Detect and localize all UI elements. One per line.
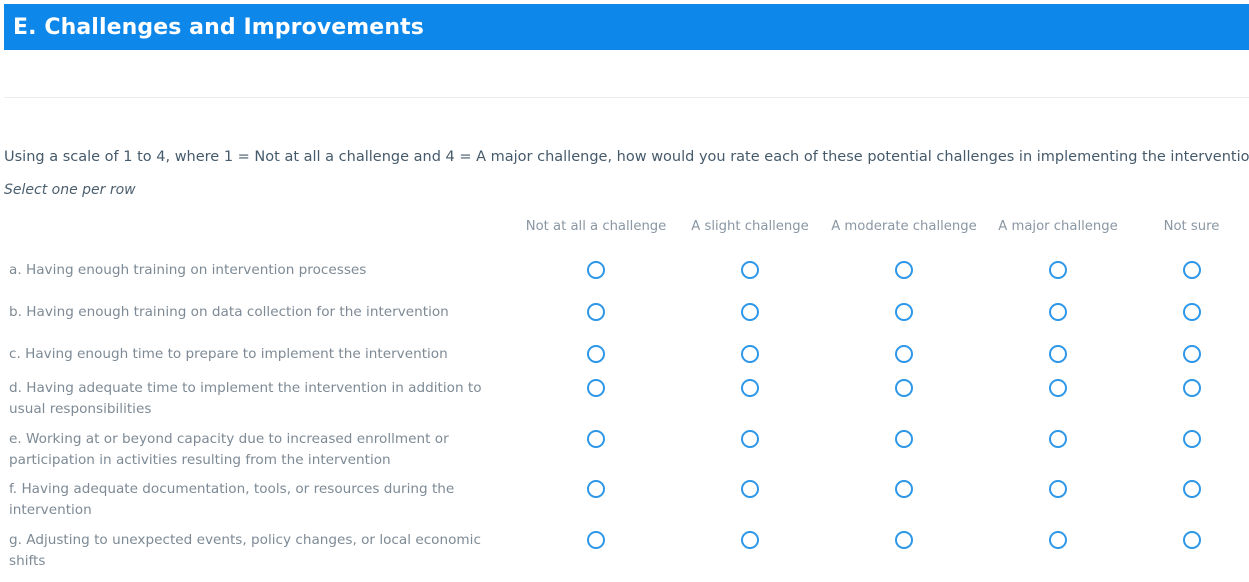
radio-button[interactable] (741, 345, 759, 363)
radio-button[interactable] (587, 303, 605, 321)
radio-button[interactable] (1183, 531, 1201, 549)
matrix-row: e. Working at or beyond capacity due to … (0, 429, 1249, 471)
radio-button[interactable] (741, 430, 759, 448)
matrix-row: f. Having adequate documentation, tools,… (0, 479, 1249, 521)
radio-button[interactable] (895, 261, 913, 279)
matrix-option-cell[interactable] (827, 260, 981, 279)
matrix-option-cell[interactable] (673, 302, 827, 321)
radio-button[interactable] (1049, 430, 1067, 448)
matrix-row-label: d. Having adequate time to implement the… (0, 378, 519, 420)
radio-button[interactable] (587, 345, 605, 363)
matrix-option-cell[interactable] (519, 344, 673, 363)
radio-button[interactable] (587, 430, 605, 448)
section-divider (4, 97, 1249, 98)
radio-button[interactable] (895, 345, 913, 363)
matrix-row: d. Having adequate time to implement the… (0, 378, 1249, 420)
radio-button[interactable] (1049, 345, 1067, 363)
radio-button[interactable] (1049, 303, 1067, 321)
matrix-option-cell[interactable] (1135, 429, 1248, 448)
matrix-option-cell[interactable] (1135, 530, 1248, 549)
radio-button[interactable] (1049, 531, 1067, 549)
matrix-column-header: Not sure (1135, 218, 1248, 236)
radio-button[interactable] (741, 480, 759, 498)
matrix-option-cell[interactable] (519, 260, 673, 279)
matrix-option-cell[interactable] (827, 530, 981, 549)
radio-button[interactable] (895, 430, 913, 448)
radio-button[interactable] (1183, 303, 1201, 321)
radio-button[interactable] (895, 303, 913, 321)
matrix-option-cell[interactable] (827, 344, 981, 363)
matrix-question-grid: Not at all a challengeA slight challenge… (0, 218, 1249, 248)
matrix-option-cell[interactable] (981, 302, 1135, 321)
matrix-row-label: g. Adjusting to unexpected events, polic… (0, 530, 519, 572)
matrix-option-cell[interactable] (673, 479, 827, 498)
radio-button[interactable] (1183, 345, 1201, 363)
matrix-option-cell[interactable] (519, 429, 673, 448)
radio-button[interactable] (587, 379, 605, 397)
matrix-option-cell[interactable] (981, 530, 1135, 549)
matrix-column-header: A moderate challenge (827, 218, 981, 236)
matrix-row-label: c. Having enough time to prepare to impl… (0, 344, 519, 365)
matrix-header-row: Not at all a challengeA slight challenge… (0, 218, 1249, 248)
matrix-option-cell[interactable] (519, 479, 673, 498)
radio-button[interactable] (895, 480, 913, 498)
question-text: Using a scale of 1 to 4, where 1 = Not a… (4, 146, 1234, 168)
question-block: Using a scale of 1 to 4, where 1 = Not a… (4, 146, 1234, 201)
radio-button[interactable] (741, 379, 759, 397)
matrix-option-cell[interactable] (827, 479, 981, 498)
matrix-row-label: b. Having enough training on data collec… (0, 302, 519, 323)
matrix-option-cell[interactable] (981, 479, 1135, 498)
section-header-banner: E. Challenges and Improvements (4, 4, 1249, 50)
matrix-option-cell[interactable] (673, 429, 827, 448)
matrix-option-cell[interactable] (673, 344, 827, 363)
matrix-row-label: f. Having adequate documentation, tools,… (0, 479, 519, 521)
matrix-row-label: e. Working at or beyond capacity due to … (0, 429, 519, 471)
radio-button[interactable] (895, 379, 913, 397)
radio-button[interactable] (1049, 480, 1067, 498)
matrix-column-header: A slight challenge (673, 218, 827, 236)
matrix-row: g. Adjusting to unexpected events, polic… (0, 530, 1249, 572)
matrix-option-cell[interactable] (981, 344, 1135, 363)
matrix-option-cell[interactable] (981, 260, 1135, 279)
radio-button[interactable] (741, 261, 759, 279)
radio-button[interactable] (741, 531, 759, 549)
radio-button[interactable] (1049, 261, 1067, 279)
matrix-option-cell[interactable] (981, 378, 1135, 397)
matrix-option-cell[interactable] (827, 302, 981, 321)
matrix-option-cell[interactable] (1135, 479, 1248, 498)
matrix-option-cell[interactable] (519, 378, 673, 397)
radio-button[interactable] (1049, 379, 1067, 397)
matrix-row: b. Having enough training on data collec… (0, 302, 1249, 323)
matrix-option-cell[interactable] (519, 302, 673, 321)
matrix-option-cell[interactable] (827, 378, 981, 397)
radio-button[interactable] (587, 261, 605, 279)
matrix-option-cell[interactable] (673, 530, 827, 549)
radio-button[interactable] (1183, 480, 1201, 498)
radio-button[interactable] (587, 480, 605, 498)
radio-button[interactable] (1183, 430, 1201, 448)
matrix-column-header: A major challenge (981, 218, 1135, 236)
radio-button[interactable] (741, 303, 759, 321)
radio-button[interactable] (1183, 379, 1201, 397)
matrix-row-label: a. Having enough training on interventio… (0, 260, 519, 281)
radio-button[interactable] (1183, 261, 1201, 279)
matrix-option-cell[interactable] (1135, 344, 1248, 363)
matrix-option-cell[interactable] (673, 378, 827, 397)
matrix-option-cell[interactable] (1135, 260, 1248, 279)
matrix-row: c. Having enough time to prepare to impl… (0, 344, 1249, 365)
matrix-option-cell[interactable] (673, 260, 827, 279)
matrix-option-cell[interactable] (1135, 378, 1248, 397)
matrix-column-header: Not at all a challenge (519, 218, 673, 236)
matrix-option-cell[interactable] (519, 530, 673, 549)
matrix-option-cell[interactable] (1135, 302, 1248, 321)
section-title: E. Challenges and Improvements (4, 15, 424, 40)
matrix-row: a. Having enough training on interventio… (0, 260, 1249, 281)
matrix-option-cell[interactable] (981, 429, 1135, 448)
radio-button[interactable] (895, 531, 913, 549)
matrix-option-cell[interactable] (827, 429, 981, 448)
radio-button[interactable] (587, 531, 605, 549)
question-instruction: Select one per row (4, 179, 1234, 201)
